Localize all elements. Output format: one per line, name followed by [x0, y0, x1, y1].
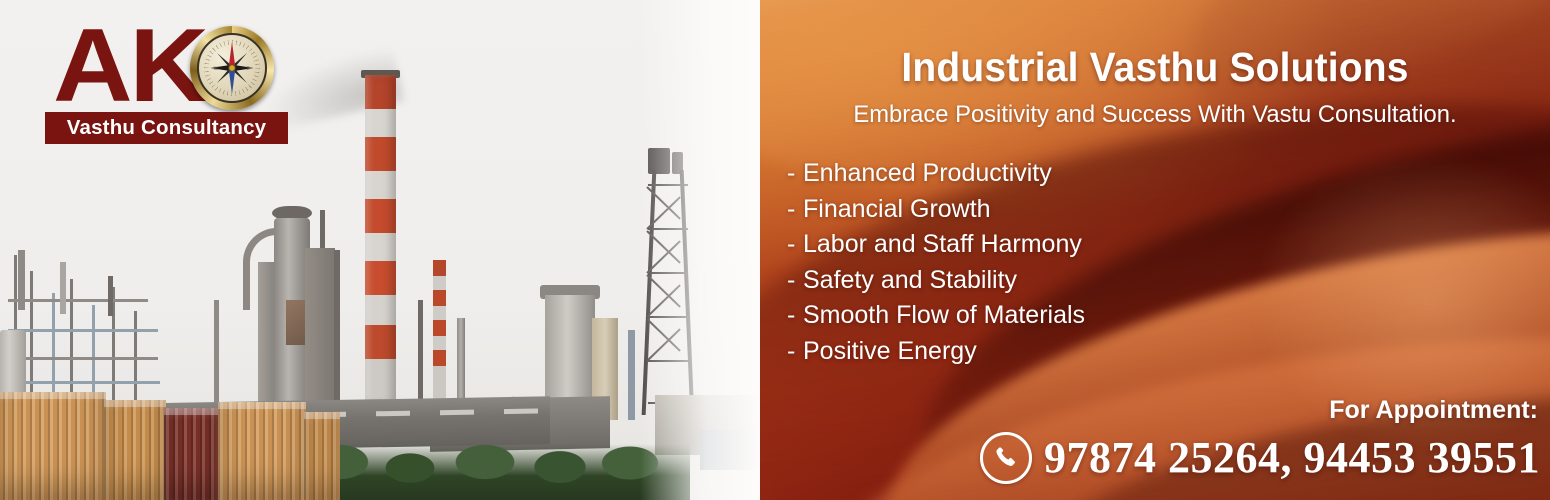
bullet-dash: -	[787, 298, 803, 334]
riser-pipe	[418, 300, 423, 410]
svg-text:S: S	[231, 82, 234, 88]
logo-monogram: AK	[53, 14, 206, 118]
page-title: Industrial Vasthu Solutions	[780, 44, 1531, 91]
svg-text:N: N	[230, 52, 234, 58]
list-item: -Positive Energy	[787, 334, 1085, 370]
distillation-column	[305, 248, 335, 418]
svg-text:W: W	[214, 66, 219, 72]
shipping-container	[164, 408, 219, 500]
bullet-dash: -	[787, 334, 803, 370]
contact-row[interactable]: 97874 25264, 94453 39551	[980, 432, 1540, 484]
bullet-dash: -	[787, 263, 803, 299]
logo-tagline: Vasthu Consultancy	[45, 112, 288, 144]
riser-pipe	[214, 300, 219, 410]
list-item-label: Labor and Staff Harmony	[803, 230, 1082, 258]
offer-panel: Industrial Vasthu Solutions Embrace Posi…	[760, 0, 1550, 500]
bullet-dash: -	[787, 192, 803, 228]
list-item-label: Smooth Flow of Materials	[803, 301, 1085, 329]
logo-tagline-bar: Vasthu Consultancy	[45, 112, 288, 144]
company-logo[interactable]: AK N S	[45, 14, 295, 146]
shipping-container	[104, 400, 166, 500]
benefits-list: -Enhanced Productivity -Financial Growth…	[787, 156, 1085, 369]
advertisement-banner: Industrial Vasthu Solutions Embrace Posi…	[0, 0, 1550, 500]
blue-pipe	[628, 330, 635, 420]
page-subtitle: Embrace Positivity and Success With Vast…	[772, 101, 1538, 129]
svg-text:E: E	[247, 66, 250, 72]
bullet-dash: -	[787, 227, 803, 263]
vent-pipe	[60, 262, 66, 314]
list-item: -Smooth Flow of Materials	[787, 298, 1085, 334]
vent-pipe	[108, 276, 113, 316]
list-item-label: Enhanced Productivity	[803, 159, 1052, 187]
appointment-label: For Appointment:	[760, 396, 1538, 425]
bullet-dash: -	[787, 156, 803, 192]
shipping-container	[304, 412, 340, 500]
list-item: -Safety and Stability	[787, 263, 1085, 299]
list-item: -Financial Growth	[787, 192, 1085, 228]
secondary-smokestack	[433, 260, 446, 410]
list-item: -Enhanced Productivity	[787, 156, 1085, 192]
photo-edge-fade	[640, 0, 760, 500]
list-item-label: Positive Energy	[803, 337, 977, 365]
riser-pipe	[334, 250, 340, 415]
shipping-container	[218, 402, 306, 500]
list-item-label: Financial Growth	[803, 195, 991, 223]
striped-smokestack	[365, 75, 396, 405]
list-item: -Labor and Staff Harmony	[787, 227, 1085, 263]
compass-icon: N S E W	[190, 26, 274, 110]
phone-numbers[interactable]: 97874 25264, 94453 39551	[1044, 435, 1540, 481]
vent-pipe	[18, 250, 25, 310]
phone-icon	[980, 432, 1032, 484]
shipping-container	[0, 392, 106, 500]
list-item-label: Safety and Stability	[803, 266, 1017, 294]
